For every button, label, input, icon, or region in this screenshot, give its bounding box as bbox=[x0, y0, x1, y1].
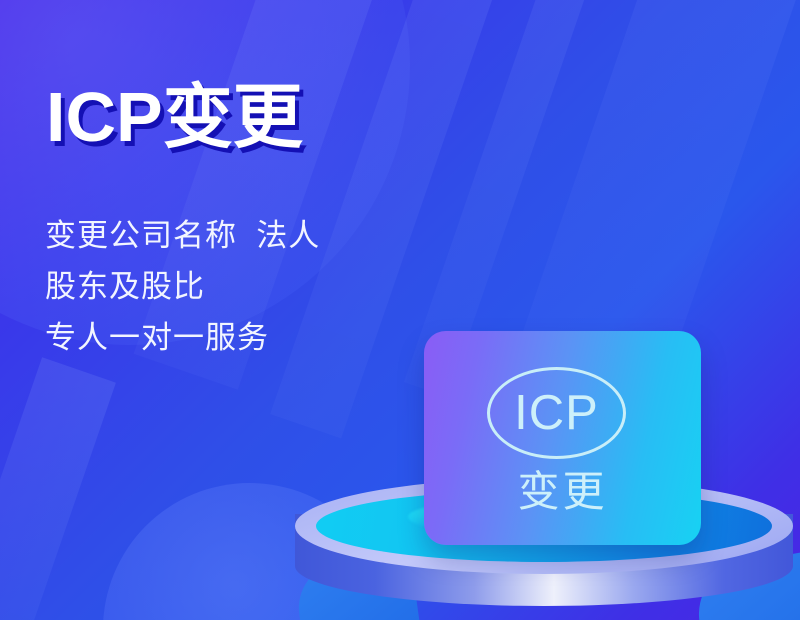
subtitle-block: 变更公司名称 法人 股东及股比 专人一对一服务 bbox=[45, 210, 320, 363]
icp-change-promo-banner: ICP变更 变更公司名称 法人 股东及股比 专人一对一服务 ICP 变更 bbox=[0, 0, 800, 620]
icp-badge-text: ICP bbox=[487, 367, 626, 459]
light-beam-5 bbox=[0, 357, 116, 620]
subtitle-line-3: 专人一对一服务 bbox=[45, 312, 320, 363]
icp-card: ICP 变更 bbox=[424, 331, 701, 545]
page-title: ICP变更 bbox=[46, 82, 303, 152]
subtitle-line-1: 变更公司名称 法人 bbox=[45, 210, 320, 261]
subtitle-line-2: 股东及股比 bbox=[45, 261, 320, 312]
icp-card-inner: ICP 变更 bbox=[424, 331, 701, 545]
icp-card-label: 变更 bbox=[424, 471, 701, 513]
